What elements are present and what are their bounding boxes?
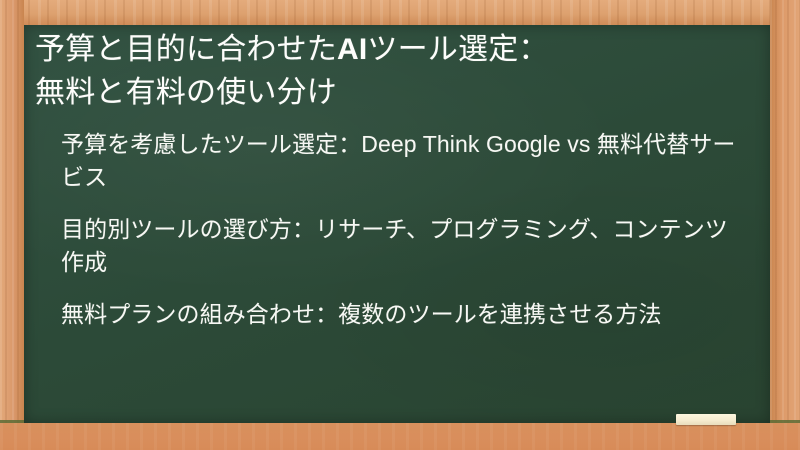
blackboard-frame: 予算と目的に合わせたAIツール選定：無料と有料の使い分け 予算を考慮したツール選… [0,0,800,450]
list-item: 予算を考慮したツール選定：Deep Think Google vs 無料代替サー… [61,128,748,194]
title-text-prefix: 予算と目的に合わせた [35,33,337,66]
wood-frame-right [770,0,800,450]
chalk-stick-icon [676,414,736,425]
wood-frame-left [0,0,24,450]
wood-frame-bottom-ledge [0,423,800,450]
list-item: 無料プランの組み合わせ：複数のツールを連携させる方法 [61,298,748,331]
title-text-line-2: 無料と有料の使い分け [35,76,337,109]
topic-list: 予算を考慮したツール選定：Deep Think Google vs 無料代替サー… [35,128,748,330]
list-item: 目的別ツールの選び方：リサーチ、プログラミング、コンテンツ作成 [61,213,748,279]
board-content: 予算と目的に合わせたAIツール選定：無料と有料の使い分け 予算を考慮したツール選… [24,25,770,423]
chalkboard-surface: 予算と目的に合わせたAIツール選定：無料と有料の使い分け 予算を考慮したツール選… [24,25,770,423]
title-text-emphasis: AI [337,33,367,66]
page-title: 予算と目的に合わせたAIツール選定：無料と有料の使い分け [35,29,748,114]
title-text-suffix: ツール選定： [367,33,548,66]
wood-frame-top [0,0,800,25]
